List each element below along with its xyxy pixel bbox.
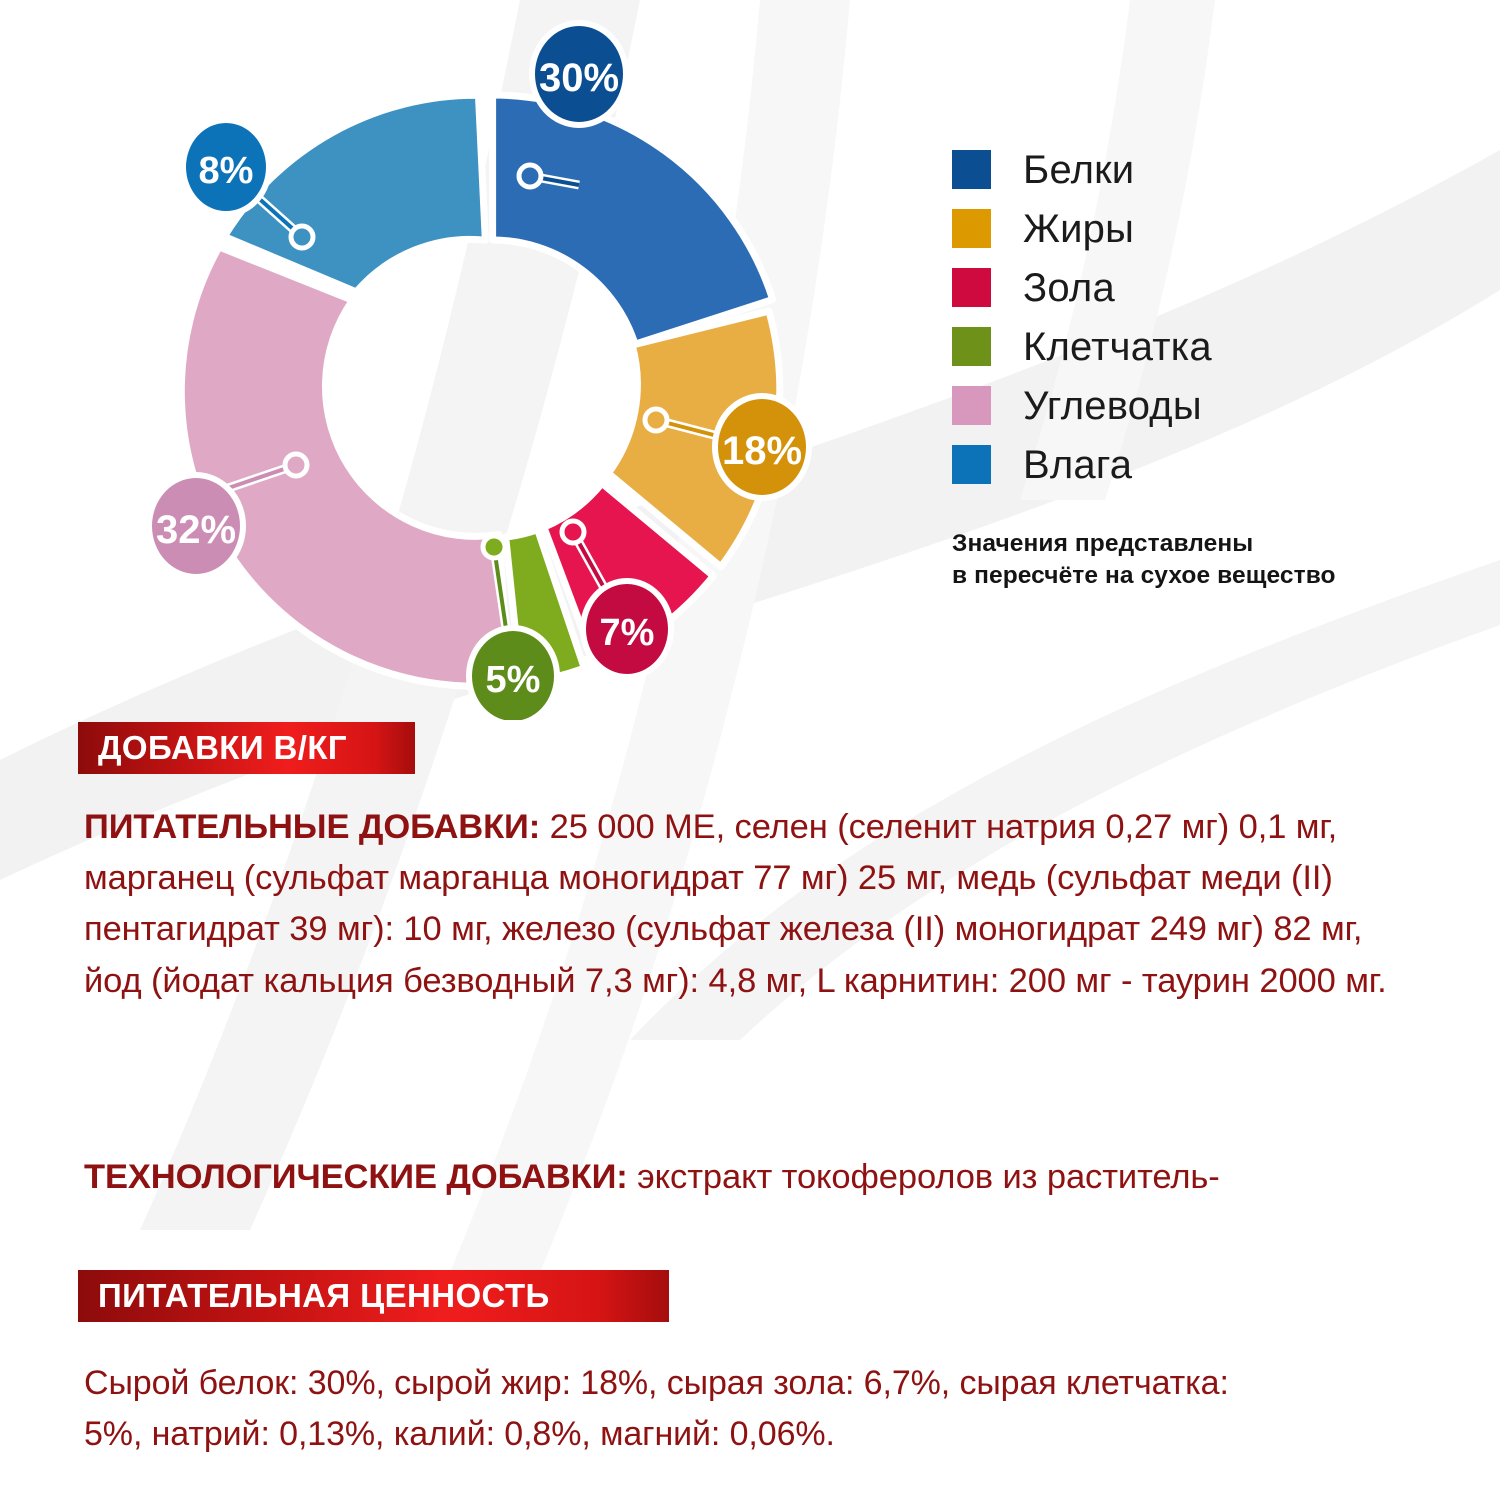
legend-note-line-2: в пересчёте на сухое вещество <box>952 560 1452 592</box>
legend-swatch-icon-fiber <box>952 327 991 366</box>
legend-item-carbs[interactable]: Углеводы <box>952 376 1422 435</box>
section-header-nutritional-value: ПИТАТЕЛЬНАЯ ЦЕННОСТЬ <box>78 1270 669 1322</box>
legend-item-fat[interactable]: Жиры <box>952 199 1422 258</box>
paragraph-nutritional-value: Сырой белок: 30%, сырой жир: 18%, сырая … <box>84 1358 1284 1460</box>
legend-item-fiber[interactable]: Клетчатка <box>952 317 1422 376</box>
callout-label-ash: 7% <box>600 612 655 654</box>
legend-swatch-icon-ash <box>952 268 991 307</box>
legend-label-protein: Белки <box>1023 150 1134 190</box>
chart-legend: Белки Жиры Зола Клетчатка Углеводы Влага <box>952 140 1422 494</box>
technological-additives-text: экстракт токоферолов из раститель- <box>628 1158 1220 1196</box>
paragraph-technological-additives: ТЕХНОЛОГИЧЕСКИЕ ДОБАВКИ: экстракт токофе… <box>84 1152 1464 1203</box>
legend-swatch-icon-carbs <box>952 386 991 425</box>
legend-swatch-icon-fat <box>952 209 991 248</box>
paragraph-nutritional-additives: ПИТАТЕЛЬНЫЕ ДОБАВКИ: 25 000 МЕ, селен (с… <box>84 802 1424 1007</box>
legend-label-ash: Зола <box>1023 268 1115 308</box>
legend-note: Значения представлены в пересчёте на сух… <box>952 528 1452 593</box>
legend-note-line-1: Значения представлены <box>952 528 1452 560</box>
donut-chart: 30% 18% 7% <box>0 0 900 720</box>
callout-label-fiber: 5% <box>486 659 541 701</box>
legend-item-protein[interactable]: Белки <box>952 140 1422 199</box>
callout-label-protein: 30% <box>539 56 619 100</box>
donut-chart-svg: 30% 18% 7% <box>0 0 900 720</box>
legend-swatch-icon-moisture <box>952 445 991 484</box>
callout-label-moisture: 8% <box>199 150 254 192</box>
donut-segment-carbs[interactable] <box>181 247 509 686</box>
nutritional-additives-label: ПИТАТЕЛЬНЫЕ ДОБАВКИ: <box>84 808 540 846</box>
callout-label-carbs: 32% <box>156 508 236 552</box>
legend-swatch-icon-protein <box>952 150 991 189</box>
callout-label-fat: 18% <box>722 429 802 473</box>
technological-additives-label: ТЕХНОЛОГИЧЕСКИЕ ДОБАВКИ: <box>84 1158 628 1196</box>
legend-label-fiber: Клетчатка <box>1023 327 1212 367</box>
legend-item-moisture[interactable]: Влага <box>952 435 1422 494</box>
donut-segment-protein[interactable] <box>493 95 773 344</box>
section-header-additives: ДОБАВКИ В/КГ <box>78 722 415 774</box>
legend-label-moisture: Влага <box>1023 445 1132 485</box>
legend-label-carbs: Углеводы <box>1023 386 1202 426</box>
legend-item-ash[interactable]: Зола <box>952 258 1422 317</box>
legend-label-fat: Жиры <box>1023 209 1134 249</box>
